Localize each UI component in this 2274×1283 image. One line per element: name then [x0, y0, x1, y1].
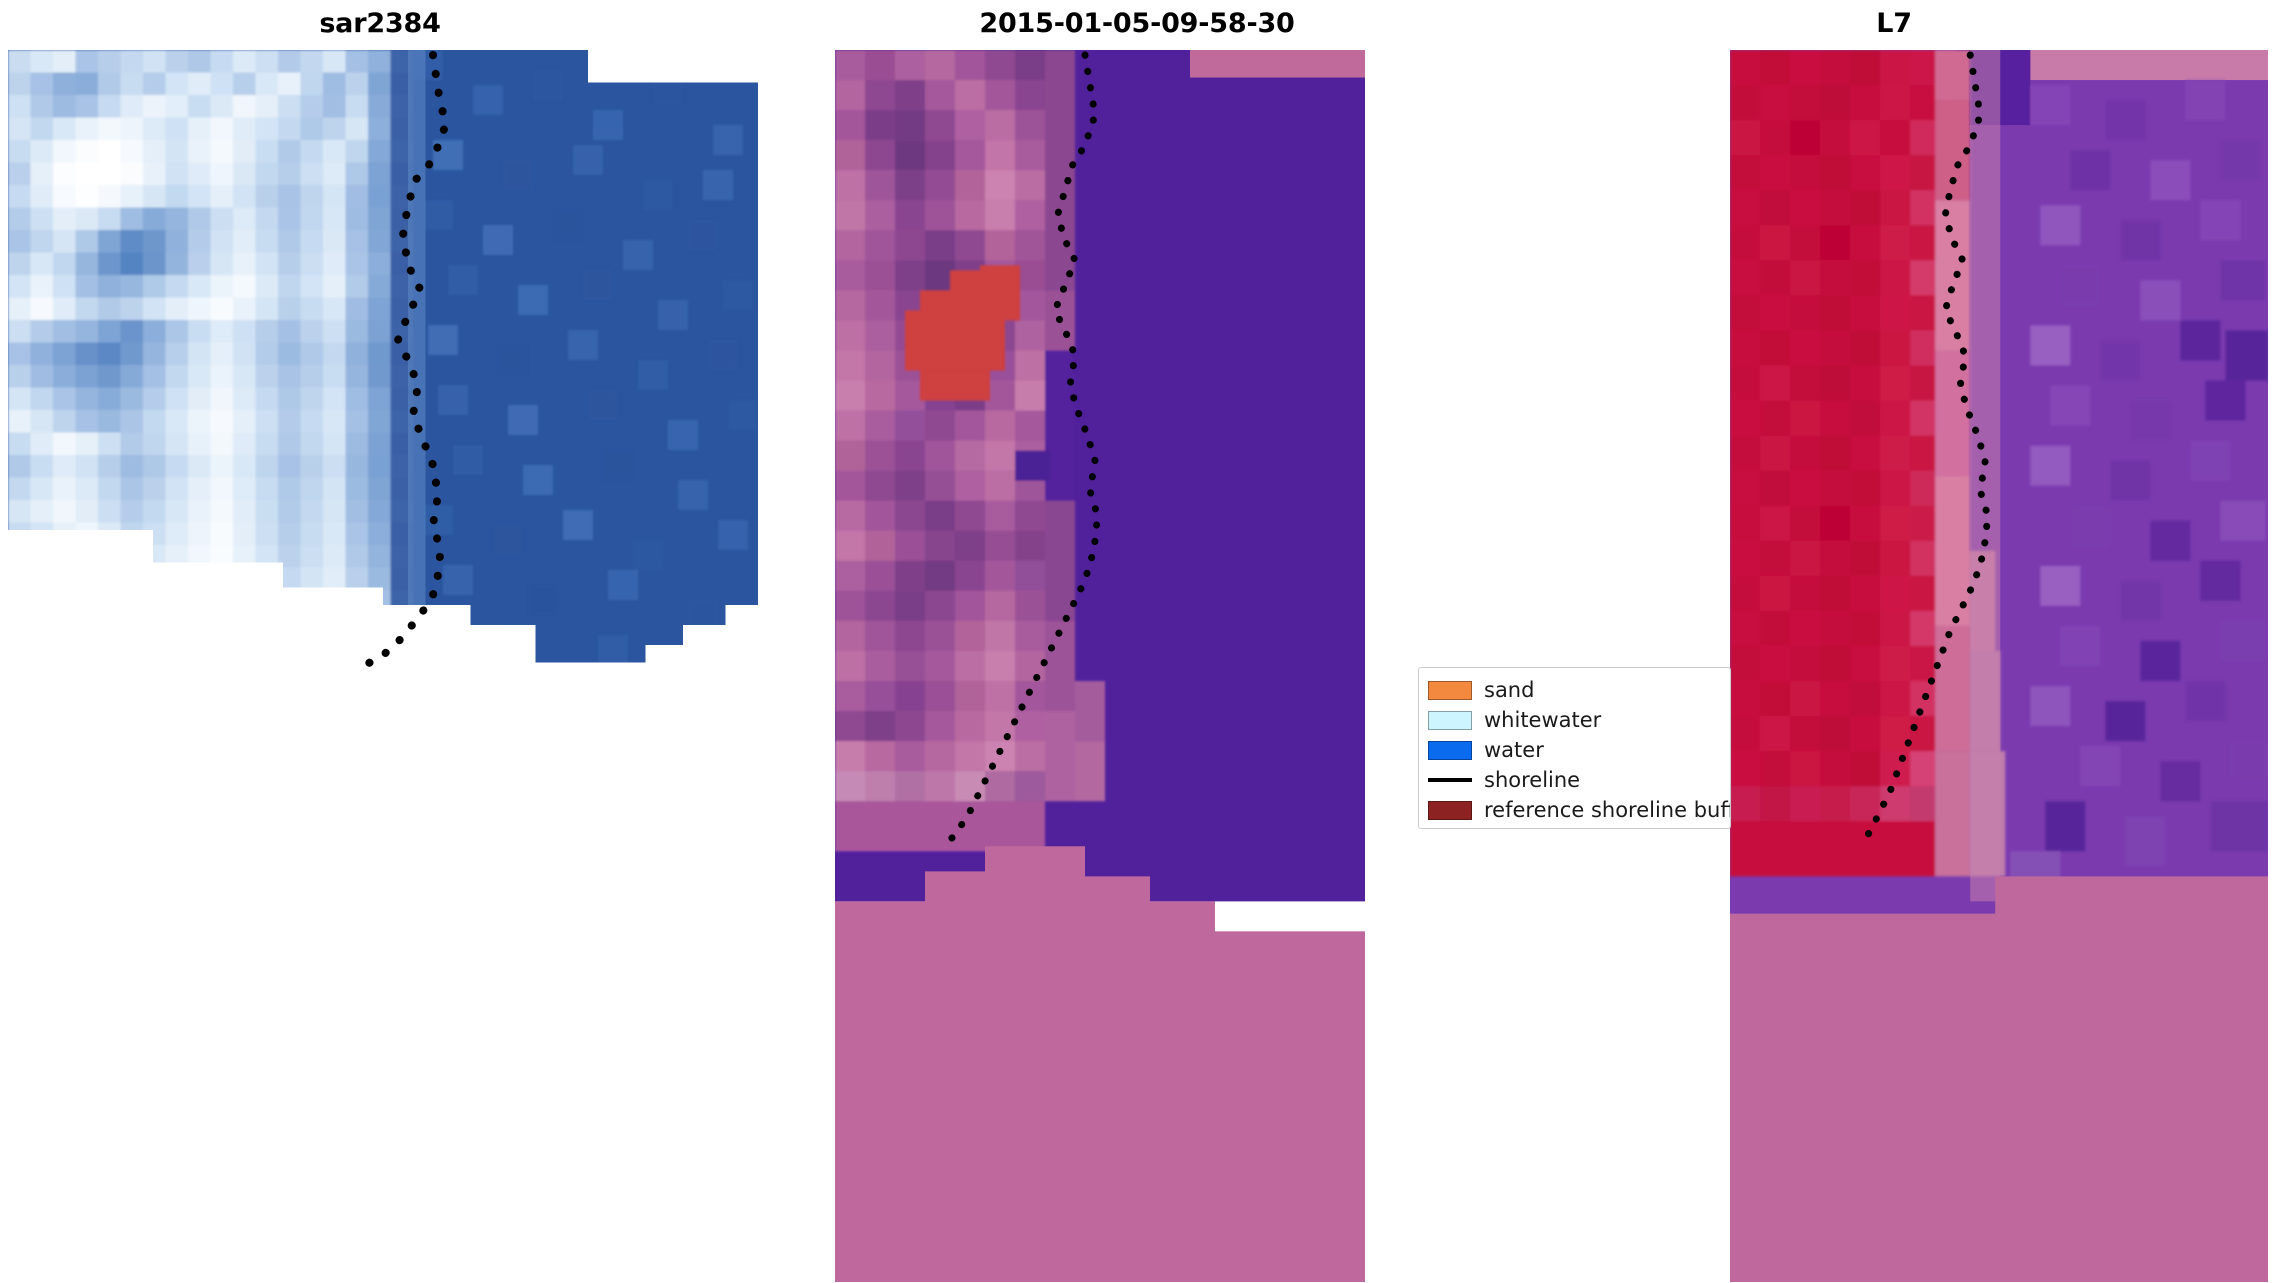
shoreline-line-icon — [1428, 778, 1472, 782]
panel-title-rgb-scene: 2015-01-05-09-58-30 — [757, 8, 1517, 39]
reference-buffer-swatch-icon — [1428, 801, 1472, 820]
l7-raster-image — [1730, 50, 2268, 1282]
panel-title-l7: L7 — [1514, 8, 2274, 39]
legend-item-sand[interactable]: sand — [1428, 675, 1721, 705]
l7-nodata-mask — [1730, 876, 2268, 1282]
legend-item-shoreline[interactable]: shoreline — [1428, 765, 1721, 795]
legend-label-shoreline: shoreline — [1484, 770, 1580, 791]
legend-label-reference-buffer: reference shoreline buffer — [1484, 800, 1731, 821]
sand-swatch-icon — [1428, 681, 1472, 700]
legend-label-sand: sand — [1484, 680, 1534, 701]
panel-sar2384: sar2384 — [0, 0, 760, 1283]
panel-image-l7 — [1730, 50, 2268, 1282]
panel-rgb-scene: 2015-01-05-09-58-30 — [757, 0, 1517, 1283]
legend-item-reference-buffer[interactable]: reference shoreline buffer — [1428, 795, 1721, 825]
panel-title-sar2384: sar2384 — [0, 8, 760, 39]
figure-canvas: sar2384 — [0, 0, 2274, 1283]
panel-image-rgb-scene — [835, 50, 1365, 1282]
panel-image-sar2384 — [8, 50, 758, 950]
water-swatch-icon — [1428, 741, 1472, 760]
legend-label-water: water — [1484, 740, 1544, 761]
legend-item-water[interactable]: water — [1428, 735, 1721, 765]
legend-item-whitewater[interactable]: whitewater — [1428, 705, 1721, 735]
panel-l7: L7 — [1514, 0, 2274, 1283]
whitewater-swatch-icon — [1428, 711, 1472, 730]
rgb-raster-image — [835, 50, 1365, 1282]
sar-raster-image — [8, 50, 758, 950]
legend-label-whitewater: whitewater — [1484, 710, 1601, 731]
legend-box[interactable]: sand whitewater water shoreline referenc… — [1418, 667, 1731, 829]
